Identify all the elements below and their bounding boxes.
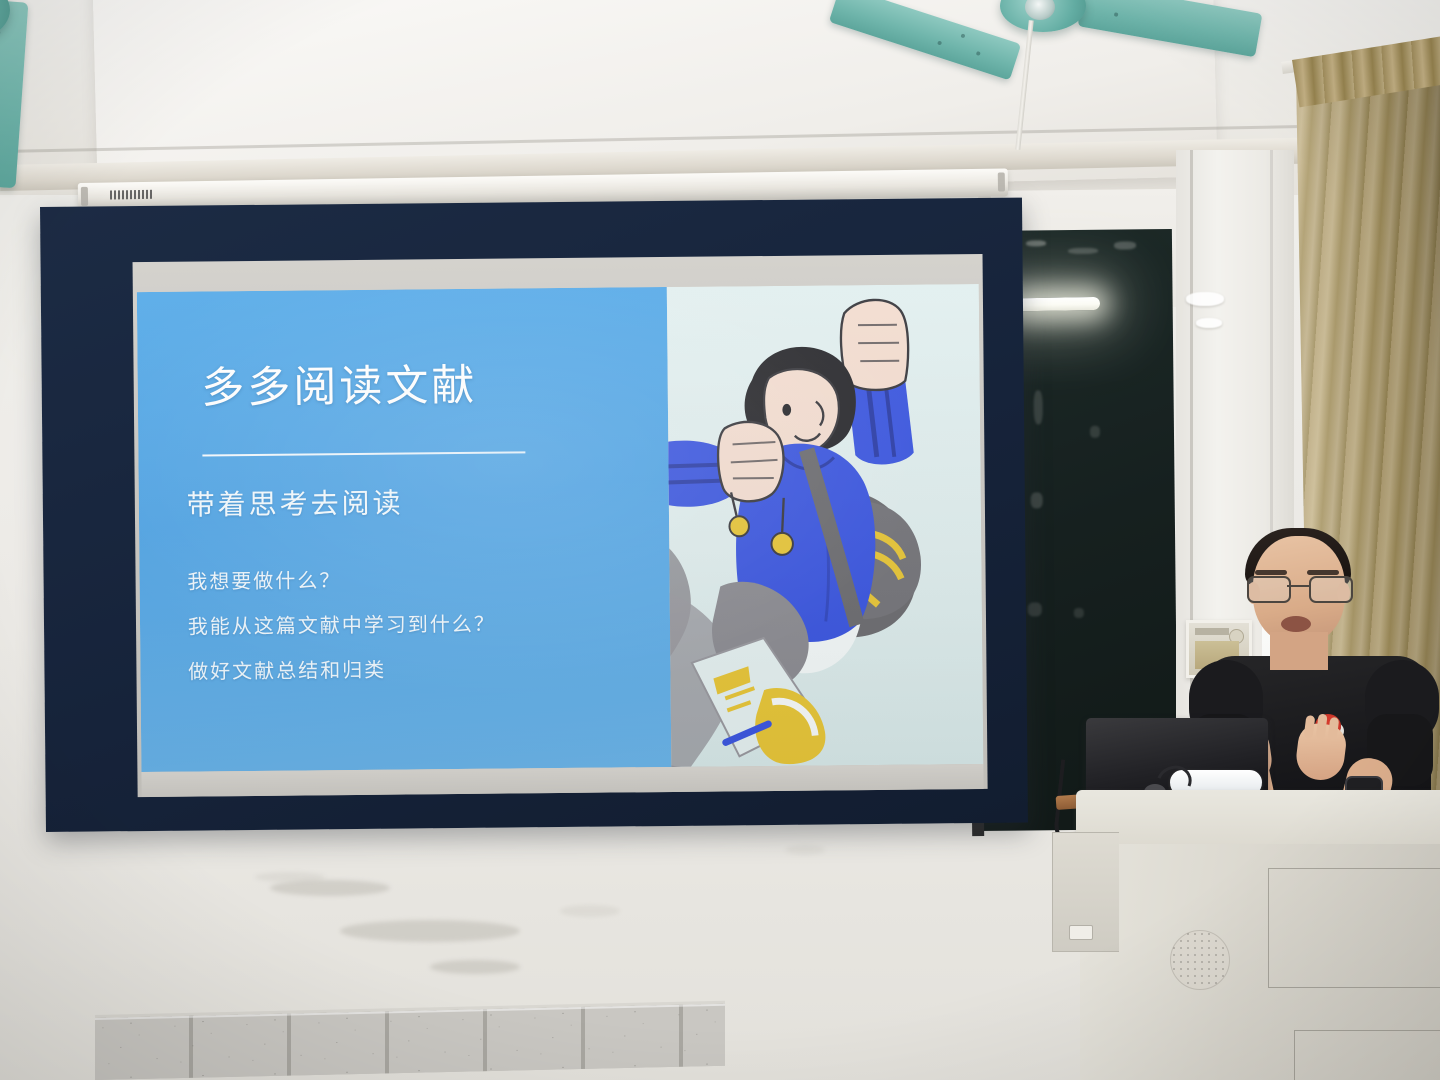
chalk-mark [1028, 602, 1042, 616]
chalk-mark [1026, 240, 1046, 246]
title-underline [202, 452, 526, 457]
left-ceiling-fan [0, 0, 210, 150]
chalk-mark [1074, 608, 1084, 618]
presenter-eyebrow [1307, 570, 1339, 575]
slide-title: 多多阅读文献 [201, 351, 478, 416]
podium-side-drawer[interactable] [1052, 832, 1119, 952]
wall-scuff [255, 872, 325, 882]
slide-bullet: 做好文献总结和归类 [188, 652, 496, 684]
lectern[interactable] [1052, 790, 1440, 1080]
wall-scuff [785, 845, 825, 855]
right-ceiling-fan [830, 0, 1250, 106]
chalk-mark [1068, 248, 1098, 254]
presenter-mouth [1281, 616, 1311, 632]
slide-bullet: 我能从这篇文献中学习到什么？ [188, 607, 496, 639]
fan-blade [829, 0, 1021, 80]
wall-scuff [560, 905, 620, 917]
wall-scuff [340, 920, 520, 942]
glasses-lens [1247, 576, 1291, 603]
podium-body [1080, 844, 1440, 1080]
chalk-mark [1114, 241, 1136, 249]
presentation-slide: 多多阅读文献 带着思考去阅读 我想要做什么？ 我能从这篇文献中学习到什么？ 做好… [137, 284, 984, 772]
slide-subtitle: 带着思考去阅读 [186, 482, 403, 524]
slide-bullet: 我想要做什么？ [187, 562, 495, 594]
slide-illustration-panel [667, 284, 983, 767]
classroom-photo: 多多阅读文献 带着思考去阅读 我想要做什么？ 我能从这篇文献中学习到什么？ 做好… [0, 0, 1440, 1080]
speaker-grille-icon [1170, 930, 1230, 990]
paint-peel [1196, 318, 1222, 328]
chalk-mark [1090, 426, 1100, 438]
podium-front-panel[interactable] [1268, 868, 1440, 988]
housing-end-cap [998, 172, 1005, 191]
slide-text-panel: 多多阅读文献 带着思考去阅读 我想要做什么？ 我能从这篇文献中学习到什么？ 做好… [137, 287, 672, 772]
student-with-backpack-raising-fist-illustration [667, 284, 983, 767]
podium-lower-panel[interactable] [1294, 1030, 1440, 1080]
glasses-icon [1247, 576, 1353, 600]
fan-blade [1078, 0, 1263, 57]
slide-surface[interactable]: 多多阅读文献 带着思考去阅读 我想要做什么？ 我能从这篇文献中学习到什么？ 做好… [137, 284, 984, 772]
screen-white-margin: 多多阅读文献 带着思考去阅读 我想要做什么？ 我能从这篇文献中学习到什么？ 做好… [133, 254, 988, 797]
podium-desktop[interactable] [1076, 790, 1440, 850]
drawer-handle[interactable] [1069, 925, 1093, 940]
housing-end-cap [81, 187, 88, 206]
wall-scuff [270, 880, 390, 896]
wall-scuff [430, 960, 520, 974]
housing-brand-label [110, 190, 154, 200]
chalk-mark [1031, 492, 1043, 508]
presenter-neck [1270, 632, 1328, 670]
paint-peel [1186, 292, 1224, 306]
glasses-lens [1309, 576, 1353, 603]
chalk-mark [1034, 390, 1043, 424]
projection-screen[interactable]: 多多阅读文献 带着思考去阅读 我想要做什么？ 我能从这篇文献中学习到什么？ 做好… [40, 198, 1028, 832]
glasses-bridge [1287, 585, 1309, 587]
slide-bullet-list: 我想要做什么？ 我能从这篇文献中学习到什么？ 做好文献总结和归类 [187, 562, 496, 700]
presenter-eyebrow [1255, 570, 1287, 575]
